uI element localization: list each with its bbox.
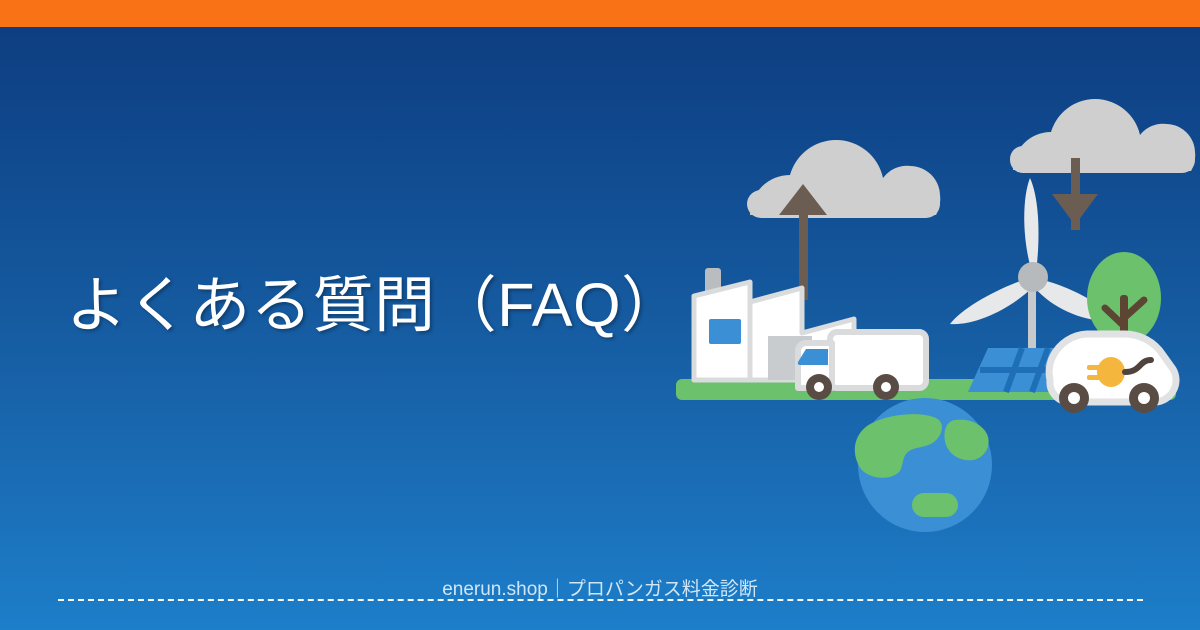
electric-car-icon xyxy=(1049,334,1176,413)
factory-window xyxy=(709,319,741,344)
footer-caption: enerun.shop｜プロパンガス料金診断 xyxy=(0,574,1200,601)
slide-canvas: よくある質問（FAQ） xyxy=(0,0,1200,630)
earth-globe-icon xyxy=(855,398,992,532)
delivery-truck-icon xyxy=(798,332,926,400)
footer-divider xyxy=(58,599,1143,601)
cloud-emission-up-icon xyxy=(747,140,940,300)
illustration-eco-energy xyxy=(650,80,1200,550)
cloud-absorption-down-icon xyxy=(1010,99,1195,230)
page-title: よくある質問（FAQ） xyxy=(66,266,683,345)
accent-top-bar xyxy=(0,0,1200,27)
